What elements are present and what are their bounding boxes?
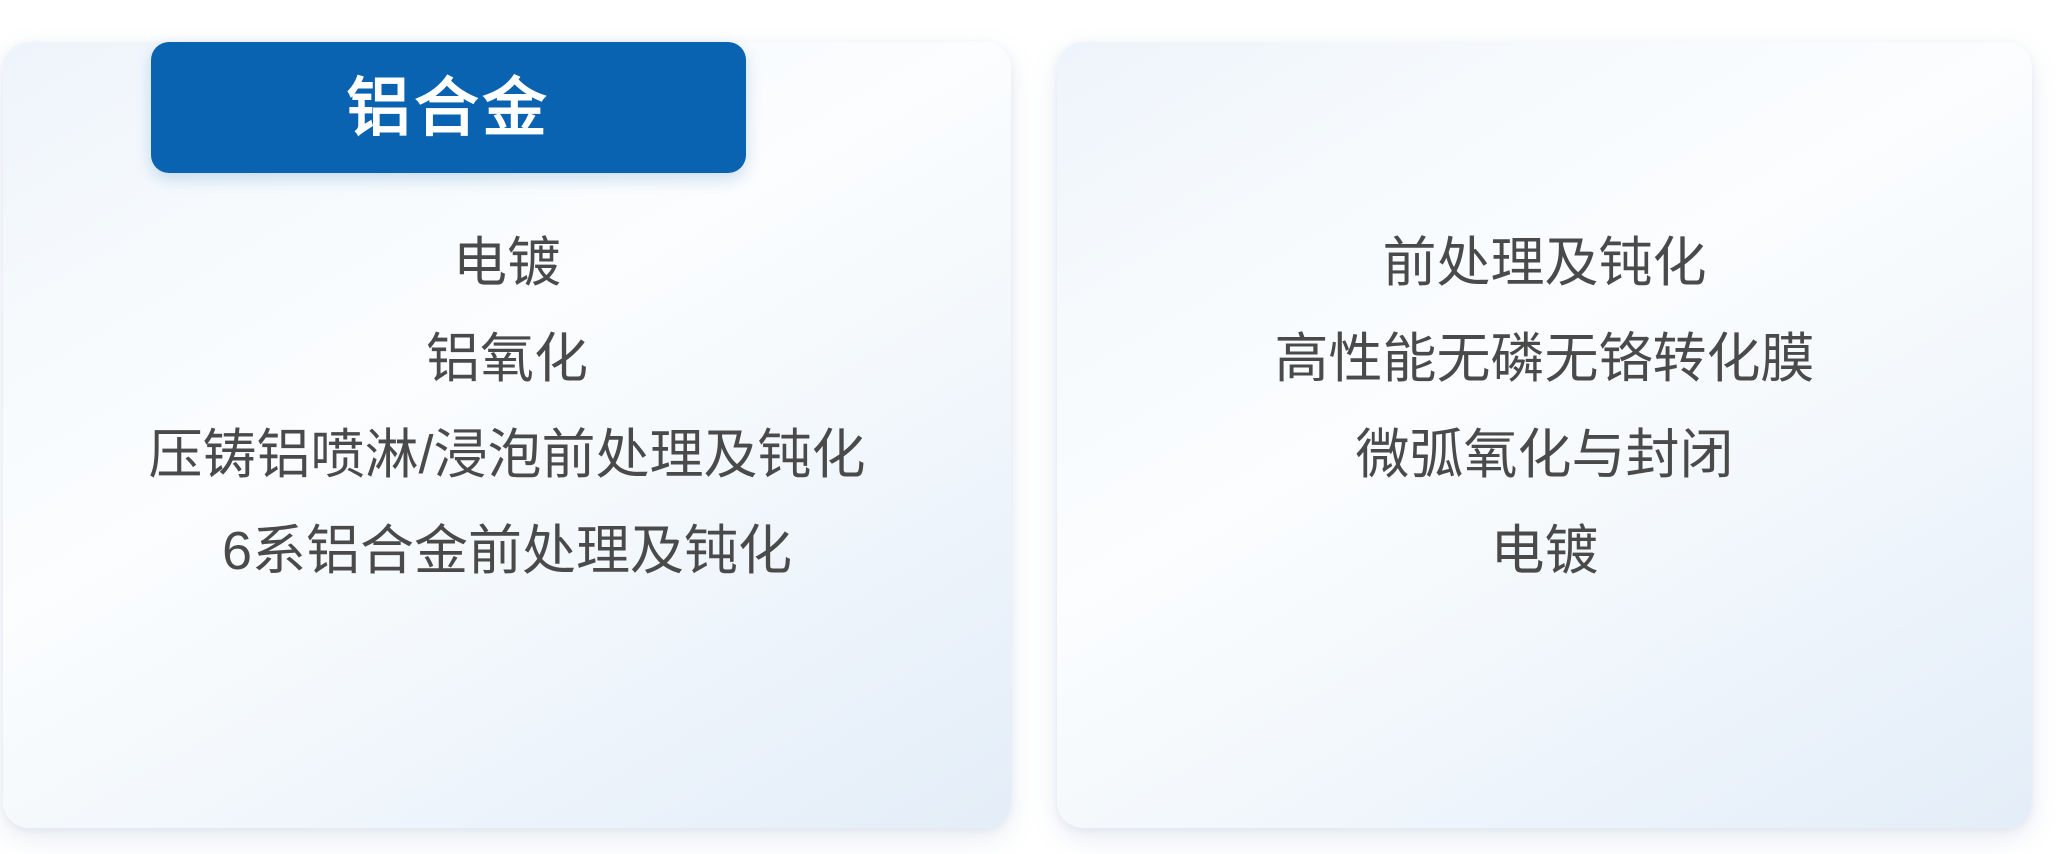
card-body-magnesium-alloy: 前处理及钝化 高性能无磷无铬转化膜 微弧氧化与封闭 电镀 — [1057, 173, 2032, 828]
list-item: 压铸铝喷淋/浸泡前处理及钝化 — [148, 407, 865, 503]
diagram-canvas: 铝合金 电镀 铝氧化 压铸铝喷淋/浸泡前处理及钝化 6系铝合金前处理及钝化 镁合… — [0, 0, 2056, 854]
list-item: 电镀 — [1491, 503, 1599, 599]
card-body-aluminum-alloy: 电镀 铝氧化 压铸铝喷淋/浸泡前处理及钝化 6系铝合金前处理及钝化 — [3, 173, 1011, 828]
card-magnesium-alloy: 镁合金 前处理及钝化 高性能无磷无铬转化膜 微弧氧化与封闭 电镀 — [1057, 42, 2032, 828]
list-item: 电镀 — [453, 215, 561, 311]
card-header-badge-aluminum-alloy: 铝合金 — [151, 42, 746, 173]
list-item: 微弧氧化与封闭 — [1356, 407, 1734, 503]
list-item: 6系铝合金前处理及钝化 — [222, 503, 792, 599]
list-item: 高性能无磷无铬转化膜 — [1275, 311, 1815, 407]
list-item: 前处理及钝化 — [1383, 215, 1707, 311]
card-aluminum-alloy: 铝合金 电镀 铝氧化 压铸铝喷淋/浸泡前处理及钝化 6系铝合金前处理及钝化 — [3, 42, 1011, 828]
card-title-aluminum-alloy: 铝合金 — [347, 76, 551, 140]
list-item: 铝氧化 — [426, 311, 588, 407]
